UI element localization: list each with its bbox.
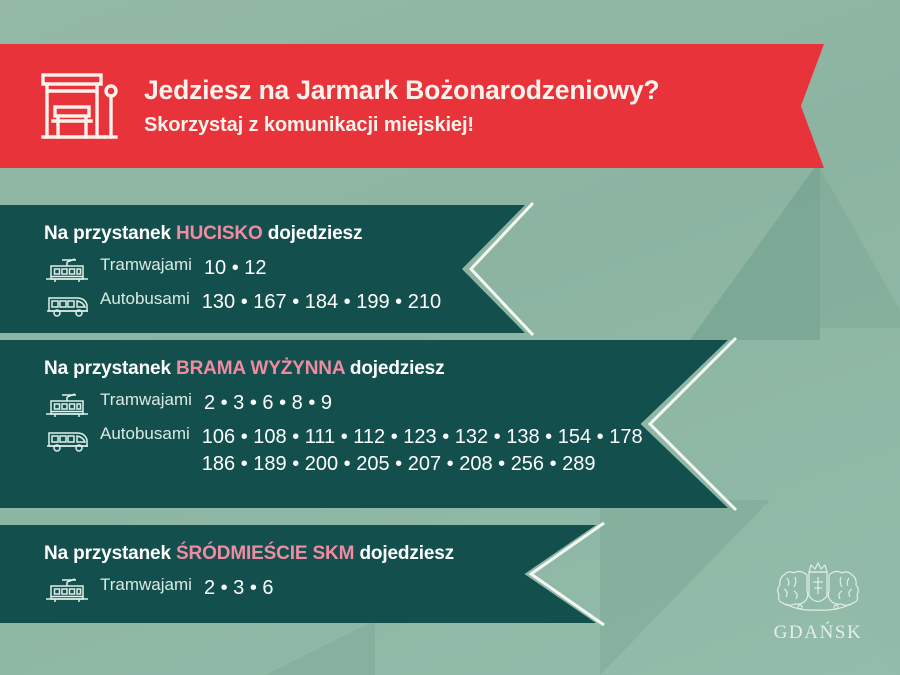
mode-number-lines: 10 • 12 [204,255,267,282]
background-triangle [255,620,375,675]
background-triangle [820,168,900,328]
tram-icon [44,393,90,419]
mode-row-tram: Tramwajami 2 • 3 • 6 • 8 • 9 [44,390,728,419]
route-numbers: 10 • 12 [204,255,267,282]
mode-row-tram: Tramwajami 2 • 3 • 6 [44,575,596,604]
stop-name: HUCISKO [176,223,263,244]
stop-block-content: Na przystanek ŚRÓDMIEŚCIE SKM dojedziesz [0,525,596,604]
stop-block-brama-wyzynna: Na przystanek BRAMA WYŻYNNA dojedziesz [0,340,728,508]
stop-heading-suffix: dojedziesz [350,358,445,379]
stop-block-hucisko: Na przystanek HUCISKO dojedziesz [0,205,525,333]
background-triangle [600,500,770,675]
header-title: Jedziesz na Jarmark Bożonarodzeniowy? [144,75,659,105]
bus-icon [44,292,90,318]
stop-heading-suffix: dojedziesz [268,223,363,244]
gdansk-coat-of-arms-icon [764,558,872,618]
gdansk-logo: GDAŃSK [758,558,878,644]
mode-number-lines: 2 • 3 • 6 [204,575,274,602]
stop-heading: Na przystanek BRAMA WYŻYNNA dojedziesz [44,358,728,380]
route-numbers: 2 • 3 • 6 [204,575,274,602]
stop-heading-suffix: dojedziesz [359,543,454,564]
route-numbers: 106 • 108 • 111 • 112 • 123 • 132 • 138 … [202,424,643,451]
mode-label: Tramwajami [100,255,192,275]
header-banner: Jedziesz na Jarmark Bożonarodzeniowy? Sk… [0,44,824,168]
stop-heading: Na przystanek ŚRÓDMIEŚCIE SKM dojedziesz [44,543,596,565]
tram-icon [44,578,90,604]
header-subtitle: Skorzystaj z komunikacji miejskiej! [144,113,659,137]
mode-number-lines: 2 • 3 • 6 • 8 • 9 [204,390,332,417]
mode-number-lines: 130 • 167 • 184 • 199 • 210 [202,289,441,316]
tram-icon [44,258,90,284]
route-numbers: 2 • 3 • 6 • 8 • 9 [204,390,332,417]
stop-block-srodmiescie-skm: Na przystanek ŚRÓDMIEŚCIE SKM dojedziesz [0,525,596,623]
mode-label: Autobusami [100,289,190,309]
mode-label: Tramwajami [100,575,192,595]
infographic-poster: Jedziesz na Jarmark Bożonarodzeniowy? Sk… [0,0,900,675]
stop-heading-prefix: Na przystanek [44,223,171,244]
stop-block-content: Na przystanek BRAMA WYŻYNNA dojedziesz [0,340,728,478]
mode-row-tram: Tramwajami 10 • 12 [44,255,525,284]
stop-block-content: Na przystanek HUCISKO dojedziesz [0,205,525,318]
mode-number-lines: 106 • 108 • 111 • 112 • 123 • 132 • 138 … [202,424,643,478]
stop-heading-prefix: Na przystanek [44,543,171,564]
gdansk-wordmark: GDAŃSK [758,622,878,644]
route-numbers: 186 • 189 • 200 • 205 • 207 • 208 • 256 … [202,451,643,478]
mode-row-bus: Autobusami 106 • 108 • 111 • 112 • 123 •… [44,424,728,478]
mode-row-bus: Autobusami 130 • 167 • 184 • 199 • 210 [44,289,525,318]
stop-name: ŚRÓDMIEŚCIE SKM [176,543,354,564]
market-stall-icon [38,69,120,143]
background-triangle [690,160,820,340]
mode-label: Tramwajami [100,390,192,410]
stop-heading-prefix: Na przystanek [44,358,171,379]
stop-name: BRAMA WYŻYNNA [176,358,345,379]
bus-icon [44,427,90,453]
route-numbers: 130 • 167 • 184 • 199 • 210 [202,289,441,316]
stop-heading: Na przystanek HUCISKO dojedziesz [44,223,525,245]
header-text-group: Jedziesz na Jarmark Bożonarodzeniowy? Sk… [144,75,659,136]
mode-label: Autobusami [100,424,190,444]
